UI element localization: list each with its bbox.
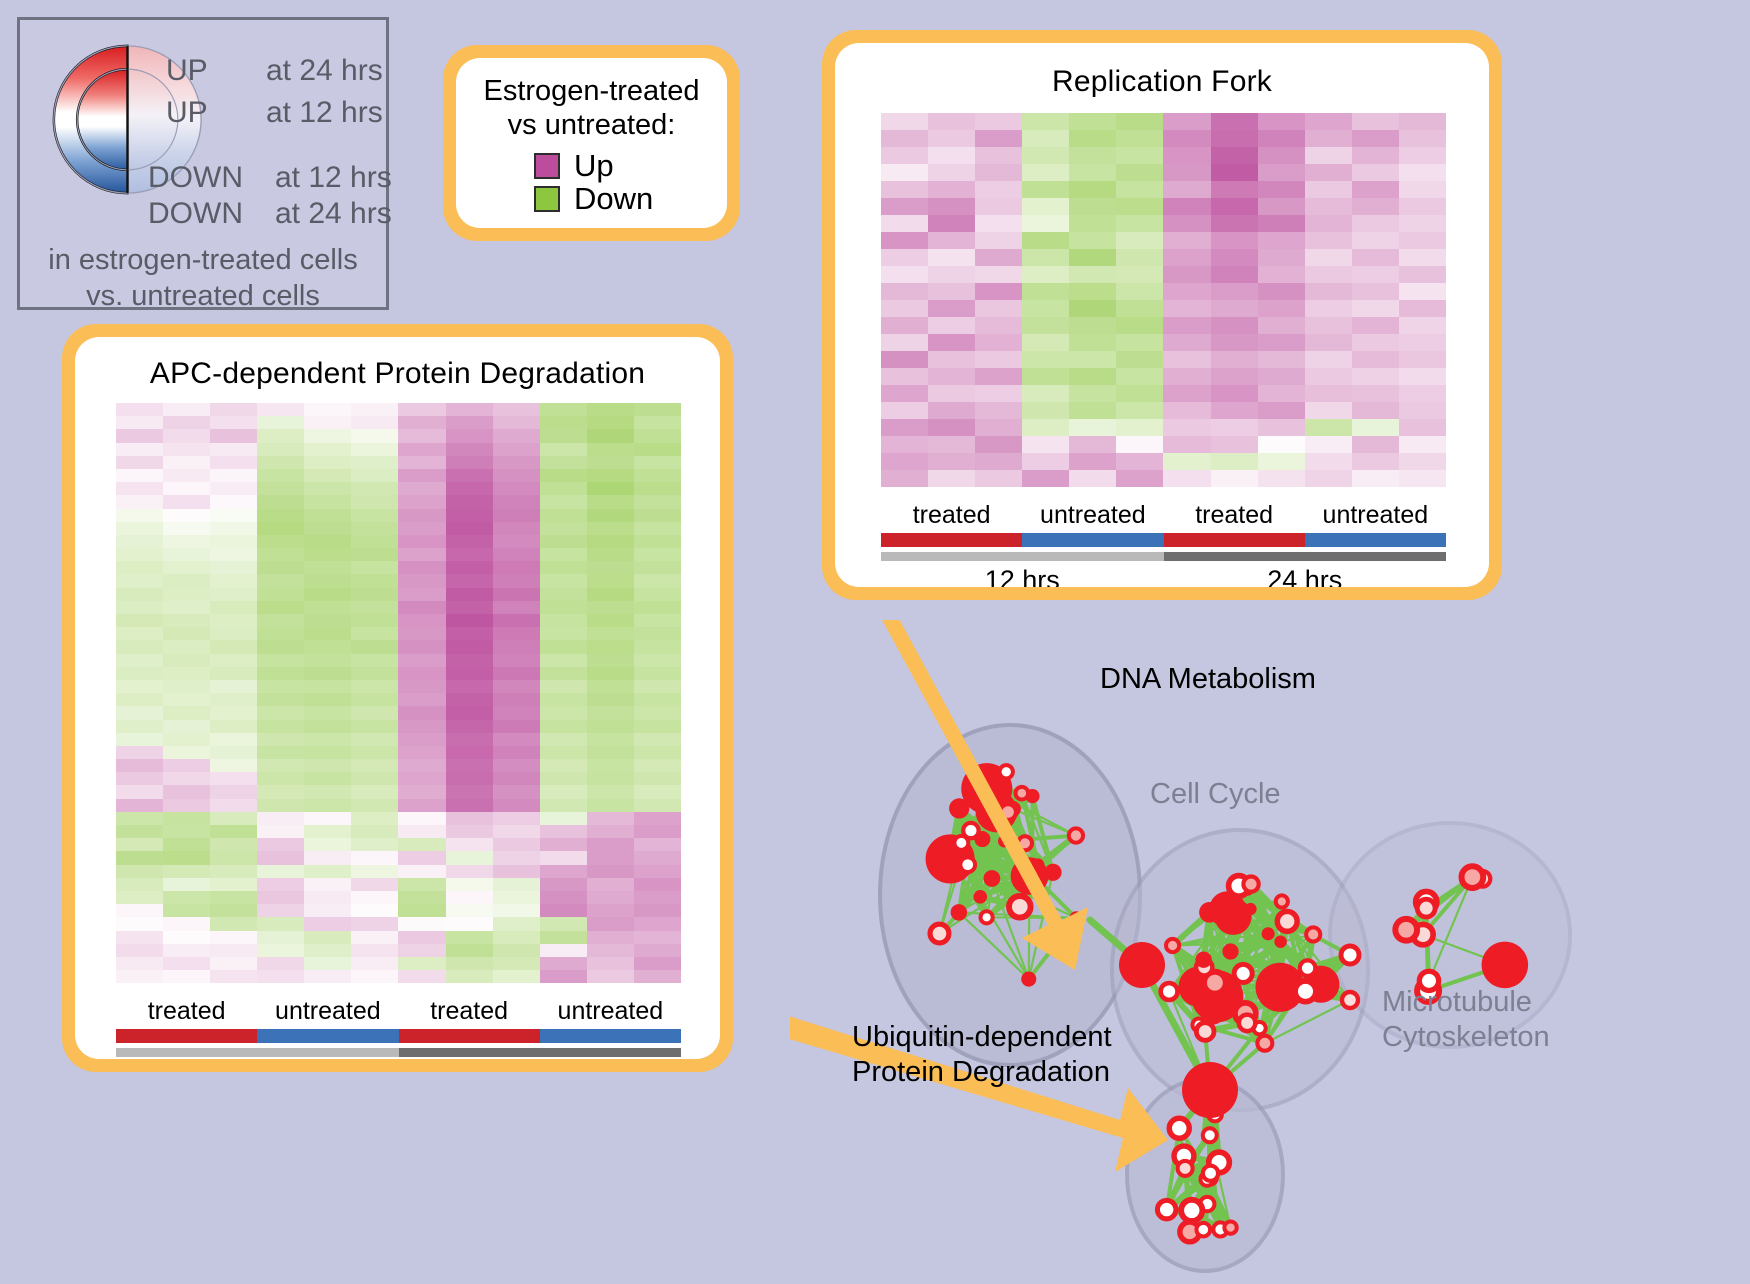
network-node[interactable]	[1395, 919, 1417, 941]
network-node[interactable]	[1119, 942, 1165, 988]
network-node[interactable]	[1044, 864, 1061, 881]
replication-fork-panel: Replication Fork treated untreated treat…	[822, 30, 1502, 600]
key-row-3-time: at 24 hrs	[275, 197, 392, 231]
expression-key-box: UP at 24 hrs UP at 12 hrs DOWN at 12 hrs…	[17, 17, 389, 310]
network-node[interactable]	[1203, 1128, 1217, 1142]
network-node[interactable]	[1244, 903, 1256, 915]
legend-item-up: Up	[534, 150, 727, 181]
network-node[interactable]	[1000, 765, 1013, 778]
legend-item-down: Down	[534, 183, 727, 214]
network-node[interactable]	[1262, 927, 1275, 940]
rf-time-label-1: 24 hrs	[1164, 565, 1447, 587]
apc-group-label-3: untreated	[540, 997, 681, 1026]
key-row-0-time: at 24 hrs	[266, 54, 383, 88]
network-node[interactable]	[1239, 1015, 1256, 1032]
network-node[interactable]	[1182, 1062, 1238, 1118]
network-node[interactable]	[1169, 1118, 1189, 1138]
rf-time-bar	[881, 552, 1446, 561]
pathway-network-diagram: DNA Metabolism Cell Cycle Microtubule Cy…	[790, 620, 1750, 1279]
replication-fork-title: Replication Fork	[835, 65, 1489, 99]
key-row-0-state: UP	[166, 54, 208, 88]
legend-heading: Estrogen-treated vs untreated:	[456, 74, 727, 142]
rf-group-label-0: treated	[881, 501, 1022, 530]
rf-group-label-2: treated	[1164, 501, 1305, 530]
network-node[interactable]	[960, 857, 975, 872]
legend-label-up: Up	[574, 150, 614, 181]
network-node[interactable]	[1417, 899, 1435, 917]
network-node[interactable]	[983, 870, 1000, 887]
network-node[interactable]	[949, 798, 969, 818]
network-node[interactable]	[1243, 876, 1258, 891]
rf-treatment-bar	[881, 533, 1446, 547]
rf-group-label-3: untreated	[1305, 501, 1446, 530]
network-node[interactable]	[1178, 1161, 1193, 1176]
network-node[interactable]	[1222, 943, 1238, 959]
network-node[interactable]	[1234, 964, 1252, 982]
network-node[interactable]	[1224, 1221, 1236, 1233]
apc-group-label-0: treated	[116, 997, 257, 1026]
network-node[interactable]	[1199, 902, 1220, 923]
network-node[interactable]	[1069, 828, 1083, 842]
replication-fork-heatmap	[881, 113, 1446, 487]
network-node[interactable]	[930, 924, 949, 943]
cluster-label-dna-metabolism: DNA Metabolism	[1100, 662, 1316, 697]
network-node[interactable]	[1196, 1223, 1210, 1237]
network-node[interactable]	[1342, 992, 1358, 1008]
apc-dependent-panel: APC-dependent Protein Degradation treate…	[62, 324, 733, 1072]
network-node[interactable]	[1482, 942, 1529, 989]
apc-dependent-title: APC-dependent Protein Degradation	[75, 357, 720, 391]
network-node[interactable]	[1306, 927, 1320, 941]
cluster-label-microtubule-cytoskeleton: Microtubule Cytoskeleton	[1382, 985, 1550, 1055]
cluster-label-cell-cycle: Cell Cycle	[1150, 777, 1281, 812]
network-node[interactable]	[1274, 935, 1286, 947]
network-node[interactable]	[1215, 898, 1252, 935]
network-node[interactable]	[951, 904, 968, 921]
network-node[interactable]	[1341, 946, 1359, 964]
network-node[interactable]	[1203, 1166, 1218, 1181]
network-node[interactable]	[1181, 1200, 1202, 1221]
network-node[interactable]	[1196, 1023, 1214, 1041]
network-node[interactable]	[954, 836, 968, 850]
apc-time-bar	[116, 1048, 681, 1057]
network-node[interactable]	[974, 831, 990, 847]
key-row-1-state: UP	[166, 96, 208, 130]
key-caption: in estrogen-treated cells vs. untreated …	[20, 242, 386, 315]
legend-swatch-down	[534, 186, 560, 212]
key-row-3-state: DOWN	[148, 197, 243, 231]
network-node[interactable]	[1300, 960, 1316, 976]
apc-group-label-2: treated	[399, 997, 540, 1026]
apc-dependent-heatmap	[116, 403, 681, 983]
network-node[interactable]	[1204, 1006, 1223, 1025]
network-node[interactable]	[1166, 939, 1179, 952]
network-svg	[790, 620, 1750, 1279]
legend-label-down: Down	[574, 183, 653, 214]
apc-treatment-bar	[116, 1029, 681, 1043]
network-node[interactable]	[1277, 911, 1297, 931]
network-node[interactable]	[973, 890, 987, 904]
network-node[interactable]	[1021, 972, 1036, 987]
network-node[interactable]	[1161, 983, 1178, 1000]
network-node[interactable]	[981, 911, 993, 923]
network-node[interactable]	[1009, 896, 1031, 918]
key-row-2-time: at 12 hrs	[275, 161, 392, 195]
network-node[interactable]	[1157, 1200, 1175, 1218]
key-row-1-time: at 12 hrs	[266, 96, 383, 130]
network-node[interactable]	[1015, 787, 1028, 800]
rf-group-label-1: untreated	[1022, 501, 1163, 530]
network-edge	[987, 917, 1076, 918]
network-node[interactable]	[1276, 895, 1288, 907]
network-node[interactable]	[1462, 866, 1484, 888]
legend-swatch-up	[534, 153, 560, 179]
network-node[interactable]	[1257, 1036, 1272, 1051]
key-row-2-state: DOWN	[148, 161, 243, 195]
rf-time-label-0: 12 hrs	[881, 565, 1164, 587]
apc-group-label-1: untreated	[257, 997, 398, 1026]
legend-panel: Estrogen-treated vs untreated: Up Down	[443, 45, 740, 241]
network-node[interactable]	[1295, 981, 1316, 1002]
network-node[interactable]	[1195, 951, 1211, 967]
cluster-label-ubiquitin-protein-degradation: Ubiquitin-dependent Protein Degradation	[852, 1020, 1112, 1090]
